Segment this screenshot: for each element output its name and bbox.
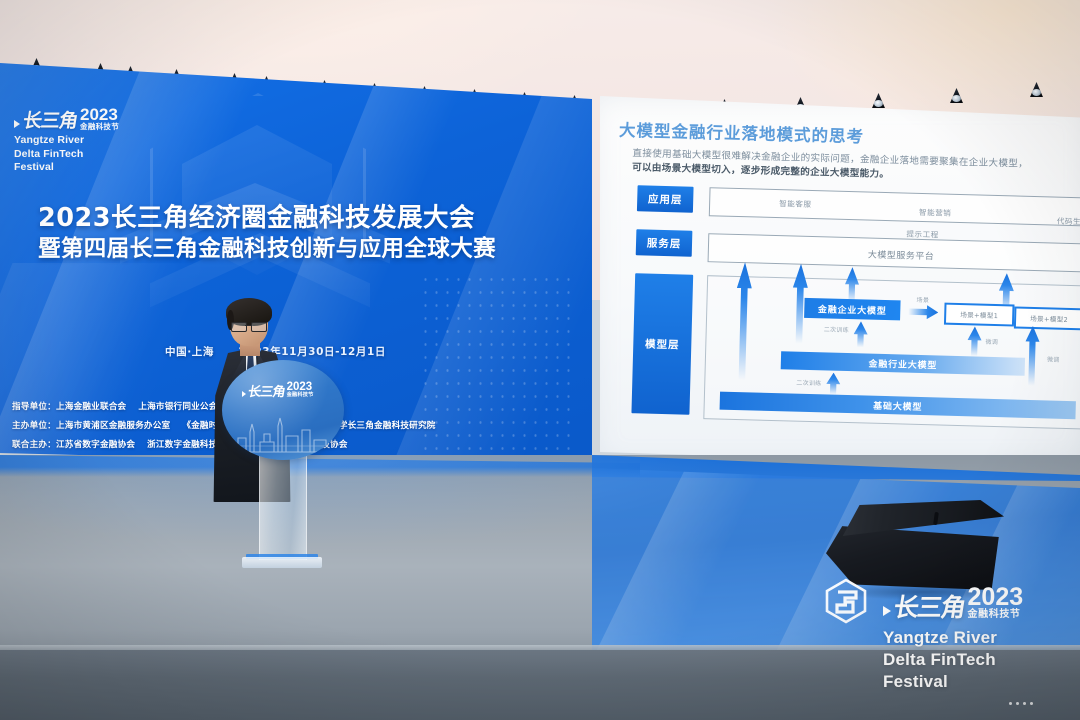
flow-label-finetune-2: 微调 [1047, 354, 1060, 363]
slide-title: 大模型金融行业落地模式的思考 [619, 117, 865, 148]
layer-chip-service: 服务层 [636, 229, 693, 257]
shanghai-skyline-illustration-icon [230, 412, 336, 454]
watermark-cn: 长三角 [892, 595, 966, 620]
glasses-lens-right [251, 322, 267, 332]
watermark-dots [1009, 702, 1033, 705]
festival-logo-en-3: Festival [14, 161, 134, 174]
slide-content: 大模型金融行业落地模式的思考 直接使用基础大模型很难解决金融企业的实际问题，金融… [592, 96, 1080, 468]
model-box-scenario-1: 场景+模型1 [944, 303, 1015, 327]
organizer-label: 指导单位： [12, 402, 56, 412]
flow-label-finetune-1: 微调 [985, 337, 998, 346]
organizer-label: 联合主办： [12, 440, 56, 450]
watermark-en-2: Delta FinTech [883, 649, 1073, 671]
festival-logo: 长三角 2023 金融科技节 Yangtze River Delta FinTe… [14, 107, 134, 175]
application-layer-box [709, 187, 1080, 226]
stage-light [870, 93, 887, 108]
watermark-en-3: Festival [883, 671, 1073, 693]
festival-logo-year: 2023 [80, 107, 118, 123]
model-box-enterprise: 金融企业大模型 [804, 298, 901, 321]
watermark-en-1: Yangtze River [883, 627, 1073, 649]
model-box-scenario-2: 场景+模型2 [1014, 307, 1080, 331]
yangtze-delta-hex-logo-icon [823, 578, 869, 624]
podium-logo-sub: 金融科技节 [287, 393, 314, 399]
festival-logo-en-2: Delta FinTech [14, 148, 134, 161]
service-item-label-2: 大模型服务平台 [868, 248, 935, 263]
app-item-label-1: 智能客服 [779, 198, 812, 210]
flow-label-retrain-2: 二次训练 [796, 378, 821, 388]
festival-watermark-logo: 长三角 2023 金融科技节 Yangtze River Delta FinTe… [823, 578, 1073, 710]
podium-logo-panel: 长三角 2023 金融科技节 [222, 360, 344, 460]
festival-logo-sub: 金融科技节 [80, 123, 119, 131]
flow-label-scene: 场景 [916, 295, 929, 304]
layer-chip-application: 应用层 [637, 185, 694, 213]
app-item-label-2: 智能营销 [919, 207, 952, 219]
layer-chip-model: 模型层 [631, 273, 693, 415]
glasses-lens-left [231, 322, 247, 332]
podium-logo-cn: 长三角 [247, 386, 286, 399]
festival-logo-cn: 长三角 [21, 112, 78, 131]
stage-light [1028, 82, 1045, 97]
speaker-glasses-icon [231, 322, 267, 330]
podium-acrylic-stem [259, 444, 307, 560]
play-arrow-icon [883, 606, 891, 616]
organizer-label: 主办单位： [12, 421, 56, 431]
organizer-value: 上海金融业联合会 [56, 402, 126, 412]
festival-logo-en-1: Yangtze River [14, 134, 134, 147]
watermark-text: 长三角 2023 金融科技节 Yangtze River Delta FinTe… [883, 586, 1073, 693]
play-arrow-icon [14, 120, 20, 128]
presentation-screen: 大模型金融行业落地模式的思考 直接使用基础大模型很难解决金融企业的实际问题，金融… [592, 96, 1080, 468]
stage-light [948, 88, 965, 103]
podium-base [242, 557, 322, 568]
stage-light-lens [874, 100, 883, 107]
organizer-value: 上海市黄浦区金融服务办公室 [56, 421, 170, 431]
podium-festival-logo: 长三角 2023 金融科技节 [242, 382, 326, 399]
monitor-top-panel [836, 500, 1004, 536]
play-arrow-icon [242, 391, 246, 397]
event-title-line-2: 暨第四届长三角金融科技创新与应用全球大赛 [38, 236, 508, 263]
organizer-value: 江苏省数字金融协会 [56, 440, 135, 450]
watermark-year: 2023 [968, 586, 1024, 609]
stage-light-lens [952, 95, 961, 102]
event-headline: 2023长三角经济圈金融科技发展大会 暨第四届长三角金融科技创新与应用全球大赛 [38, 203, 508, 263]
event-title-line-1: 2023长三角经济圈金融科技发展大会 [38, 203, 508, 233]
watermark-sub: 金融科技节 [968, 609, 1024, 620]
stage-light-lens [1032, 89, 1041, 96]
conference-stage-photo: 长三角 2023 金融科技节 Yangtze River Delta FinTe… [0, 0, 1080, 720]
speaker-podium: 长三角 2023 金融科技节 [222, 360, 344, 575]
flow-label-retrain-1: 二次训练 [824, 324, 849, 334]
app-item-label-3: 代码生成 [1057, 216, 1080, 228]
